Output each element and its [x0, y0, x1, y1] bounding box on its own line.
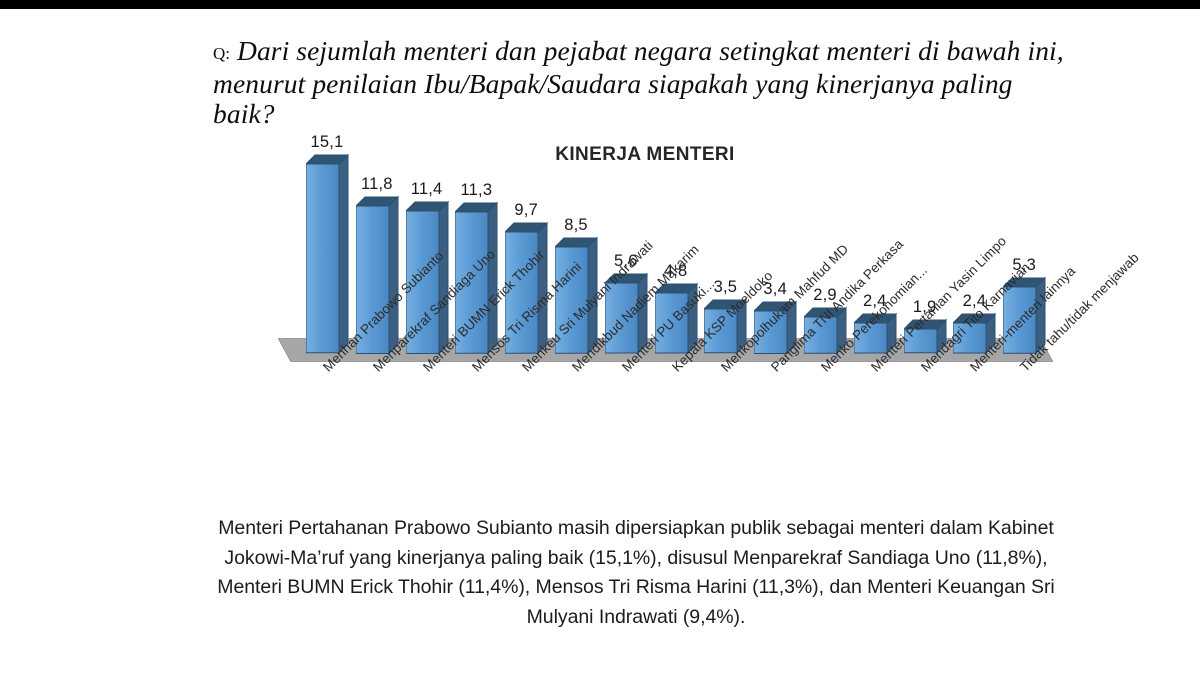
question-prefix: Q: — [213, 44, 230, 63]
caption-text: Menteri Pertahanan Prabowo Subianto masi… — [196, 514, 1076, 632]
chart-bar — [306, 156, 348, 354]
letterbox-bottom-bar — [0, 675, 1200, 679]
question-block: Q: Dari sejumlah menteri dan pejabat neg… — [213, 36, 1073, 129]
slide-canvas: Q: Dari sejumlah menteri dan pejabat neg… — [0, 0, 1200, 679]
chart-bar-value-label: 8,5 — [546, 216, 606, 235]
question-body: Dari sejumlah menteri dan pejabat negara… — [213, 35, 1064, 129]
chart-area: KINERJA MENTERI 15,111,811,411,39,78,55,… — [0, 136, 1200, 506]
chart-bar-value-label: 11,3 — [446, 181, 506, 200]
letterbox-top-bar — [0, 0, 1200, 9]
chart-bar-shape — [306, 154, 350, 354]
question-text: Q: Dari sejumlah menteri dan pejabat neg… — [213, 36, 1073, 129]
chart-bar-value-label: 15,1 — [297, 133, 357, 152]
